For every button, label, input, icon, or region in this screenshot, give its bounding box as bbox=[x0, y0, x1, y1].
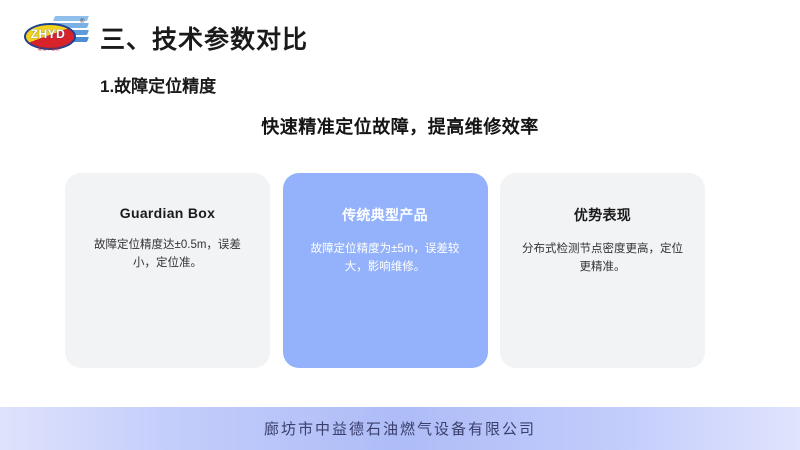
comparison-card-advantage: 优势表现 分布式检测节点密度更高，定位更精准。 bbox=[500, 173, 705, 368]
section-headline: 快速精准定位故障，提高维修效率 bbox=[0, 113, 800, 139]
card-body: 故障定位精度为±5m，误差较大，影响维修。 bbox=[301, 241, 470, 277]
comparison-card-group: Guardian Box 故障定位精度达±0.5m，误差小，定位准。 传统典型产… bbox=[65, 173, 705, 368]
logo-mark-text: ZHYD bbox=[24, 23, 72, 46]
comparison-card-guardian-box: Guardian Box 故障定位精度达±0.5m，误差小，定位准。 bbox=[65, 173, 270, 368]
card-title: 传统典型产品 bbox=[301, 205, 470, 225]
slide-header: ZHYD 管道中益德 ® 三、技术参数对比 1.故障定位精度 bbox=[0, 0, 800, 70]
registered-trademark-icon: ® bbox=[80, 19, 84, 25]
comparison-card-traditional-product: 传统典型产品 故障定位精度为±5m，误差较大，影响维修。 bbox=[283, 173, 488, 368]
card-body: 故障定位精度达±0.5m，误差小，定位准。 bbox=[83, 237, 252, 273]
card-title: 优势表现 bbox=[518, 205, 687, 225]
page-subtitle: 1.故障定位精度 bbox=[100, 72, 216, 97]
card-title: Guardian Box bbox=[83, 205, 252, 221]
footer-company-name: 廊坊市中益德石油燃气设备有限公司 bbox=[264, 418, 536, 439]
zhyd-company-logo: ZHYD 管道中益德 ® bbox=[24, 13, 90, 55]
page-title: 三、技术参数对比 bbox=[100, 20, 308, 56]
card-body: 分布式检测节点密度更高，定位更精准。 bbox=[518, 241, 687, 277]
slide-footer: 廊坊市中益德石油燃气设备有限公司 bbox=[0, 407, 800, 450]
logo-mark-subtext: 管道中益德 bbox=[25, 46, 73, 52]
